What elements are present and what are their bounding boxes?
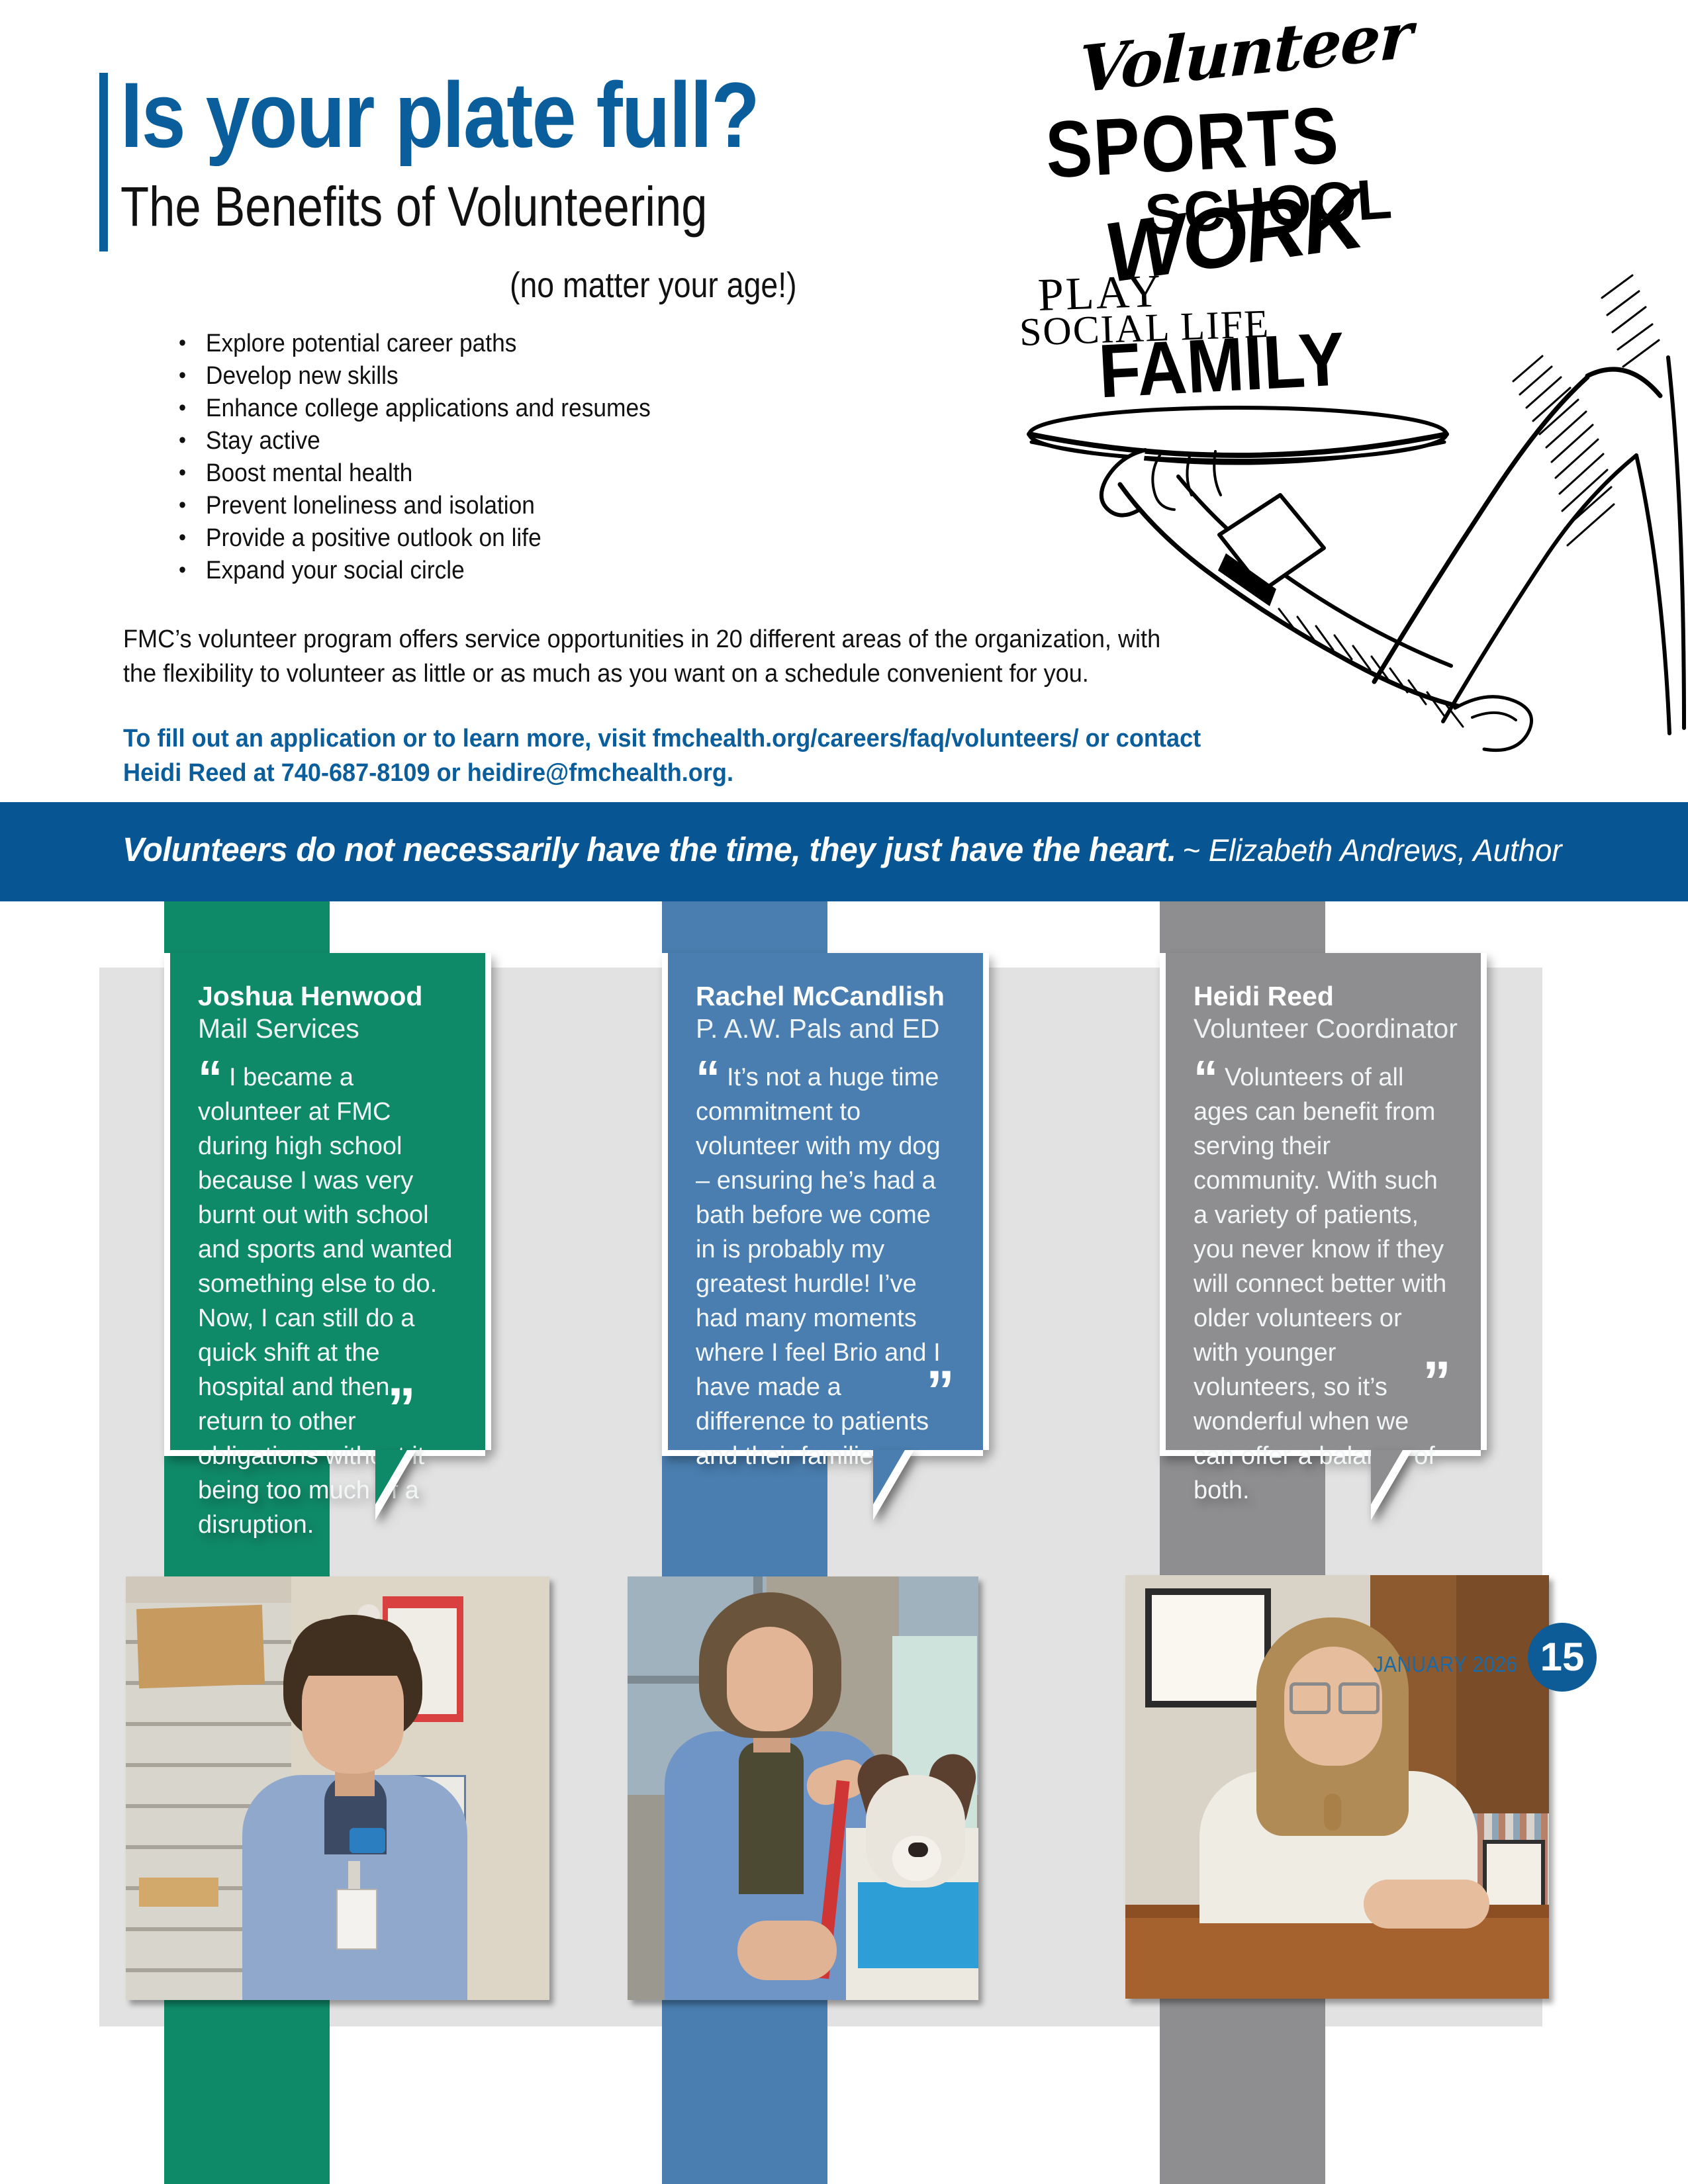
testimonial-name: Joshua Henwood	[198, 981, 457, 1013]
list-item: Expand your social circle	[179, 555, 651, 587]
wordart-play: PLAY	[1037, 268, 1164, 319]
page-number-badge: 15	[1528, 1623, 1597, 1692]
testimonial-quote-block: “I became a volunteer at FMC during high…	[198, 1060, 457, 1542]
bubble-outline-right	[1481, 953, 1487, 1450]
title-accent-rule	[99, 73, 108, 251]
wordart-school: SCHOOL	[1143, 170, 1394, 244]
page-title: Is your plate full?	[120, 69, 759, 161]
issue-date: JANUARY 2026	[1374, 1652, 1517, 1677]
bubble-outline-right	[485, 953, 491, 1450]
testimonial-role: Volunteer Coordinator	[1194, 1013, 1453, 1044]
wordart-family: FAMILY	[1097, 321, 1346, 410]
list-item: Stay active	[179, 425, 651, 457]
list-item: Boost mental health	[179, 457, 651, 490]
testimonial-quote-block: “Volunteers of all ages can benefit from…	[1194, 1060, 1453, 1508]
pull-quote-attribution: ~ Elizabeth Andrews, Author	[1182, 833, 1562, 868]
testimonial-role: Mail Services	[198, 1013, 457, 1044]
open-quote-icon: “	[1194, 1050, 1215, 1105]
page-number: 15	[1528, 1623, 1597, 1692]
testimonial-role: P. A.W. Pals and ED	[696, 1013, 955, 1044]
open-quote-icon: “	[696, 1050, 718, 1105]
list-item: Develop new skills	[179, 360, 651, 392]
testimonial-photo-heidi: Heidi Reed at her desk	[1125, 1575, 1549, 1999]
testimonial-quote-text: It’s not a huge time commitment to volun…	[696, 1064, 941, 1470]
bubble-outline-right	[983, 953, 989, 1450]
list-item: Provide a positive outlook on life	[179, 522, 651, 555]
page-subtitle-note: (no matter your age!)	[510, 267, 797, 303]
wordart-volunteer: Volunteer	[1078, 3, 1412, 103]
pull-quote-text: Volunteers do not necessarily have the t…	[122, 831, 1176, 868]
bubble-tail-fill	[1371, 1450, 1403, 1504]
testimonial-quote-block: “It’s not a huge time commitment to volu…	[696, 1060, 955, 1473]
testimonial-photo-rachel: Rachel McCandlish with therapy dog Brio	[628, 1576, 978, 2000]
testimonial-quote-text: Volunteers of all ages can benefit from …	[1194, 1064, 1446, 1504]
testimonial-photo-joshua: Joshua Henwood in the mail room	[126, 1576, 549, 2000]
testimonial-name: Rachel McCandlish	[696, 981, 955, 1013]
wordart-sports: SPORTS	[1044, 95, 1341, 191]
testimonial-name: Heidi Reed	[1194, 981, 1453, 1013]
call-to-action-text: To fill out an application or to learn m…	[123, 721, 1205, 790]
bubble-tail-fill	[873, 1450, 905, 1504]
wordart-work: WORK	[1100, 176, 1366, 296]
wordart-social-life: SOCIAL LIFE	[1019, 304, 1270, 352]
intro-paragraph: FMC’s volunteer program offers service o…	[123, 622, 1180, 691]
testimonial-card-joshua: Joshua Henwood Mail Services “I became a…	[164, 953, 485, 1456]
article-header: Is your plate full? The Benefits of Volu…	[0, 0, 1688, 801]
bubble-tail-fill	[375, 1450, 407, 1504]
pull-quote-banner: Volunteers do not necessarily have the t…	[0, 802, 1688, 901]
testimonials-section: Joshua Henwood Mail Services “I became a…	[0, 901, 1688, 2184]
open-quote-icon: “	[198, 1050, 220, 1105]
list-item: Prevent loneliness and isolation	[179, 490, 651, 522]
testimonial-card-heidi: Heidi Reed Volunteer Coordinator “Volunt…	[1160, 953, 1481, 1456]
testimonial-card-rachel: Rachel McCandlish P. A.W. Pals and ED “I…	[662, 953, 983, 1456]
benefits-list: Explore potential career paths Develop n…	[179, 328, 686, 587]
list-item: Enhance college applications and resumes	[179, 392, 651, 425]
page-subtitle: The Benefits of Volunteering	[120, 179, 708, 234]
list-item: Explore potential career paths	[179, 328, 651, 360]
